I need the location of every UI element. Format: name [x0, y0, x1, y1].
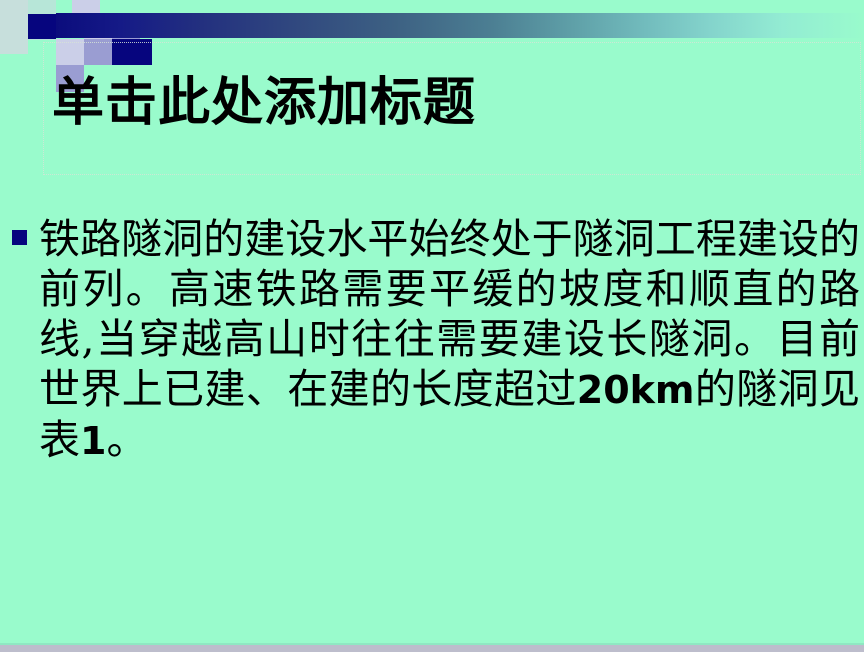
- list-item[interactable]: 铁路隧洞的建设水平始终处于隧洞工程建设的前列。高速铁路需要平缓的坡度和顺直的路线…: [12, 214, 860, 466]
- decor-block-pale-1: [0, 0, 28, 54]
- presentation-slide: 单击此处添加标题 铁路隧洞的建设水平始终处于隧洞工程建设的前列。高速铁路需要平缓…: [0, 0, 864, 652]
- body-run-3: 1: [80, 419, 106, 463]
- decor-block-lavender-4: [56, 39, 84, 65]
- body-paragraph: 铁路隧洞的建设水平始终处于隧洞工程建设的前列。高速铁路需要平缓的坡度和顺直的路线…: [39, 214, 860, 466]
- bullet-square-icon: [12, 230, 27, 245]
- bottom-chrome-strip: [0, 645, 864, 652]
- page-title[interactable]: 单击此处添加标题: [52, 72, 852, 134]
- body-run-4: 。: [106, 416, 147, 464]
- decor-block-periwinkle-2: [84, 39, 112, 65]
- body-run-1: 20km: [577, 368, 695, 412]
- decor-block-lavender-2: [100, 0, 122, 14]
- decor-block-navy-1: [28, 14, 56, 39]
- decor-block-navy-2: [112, 39, 152, 65]
- decor-block-lavender-1: [72, 0, 100, 14]
- header-gradient-bar: [56, 13, 864, 38]
- body-placeholder[interactable]: 铁路隧洞的建设水平始终处于隧洞工程建设的前列。高速铁路需要平缓的坡度和顺直的路线…: [12, 214, 860, 466]
